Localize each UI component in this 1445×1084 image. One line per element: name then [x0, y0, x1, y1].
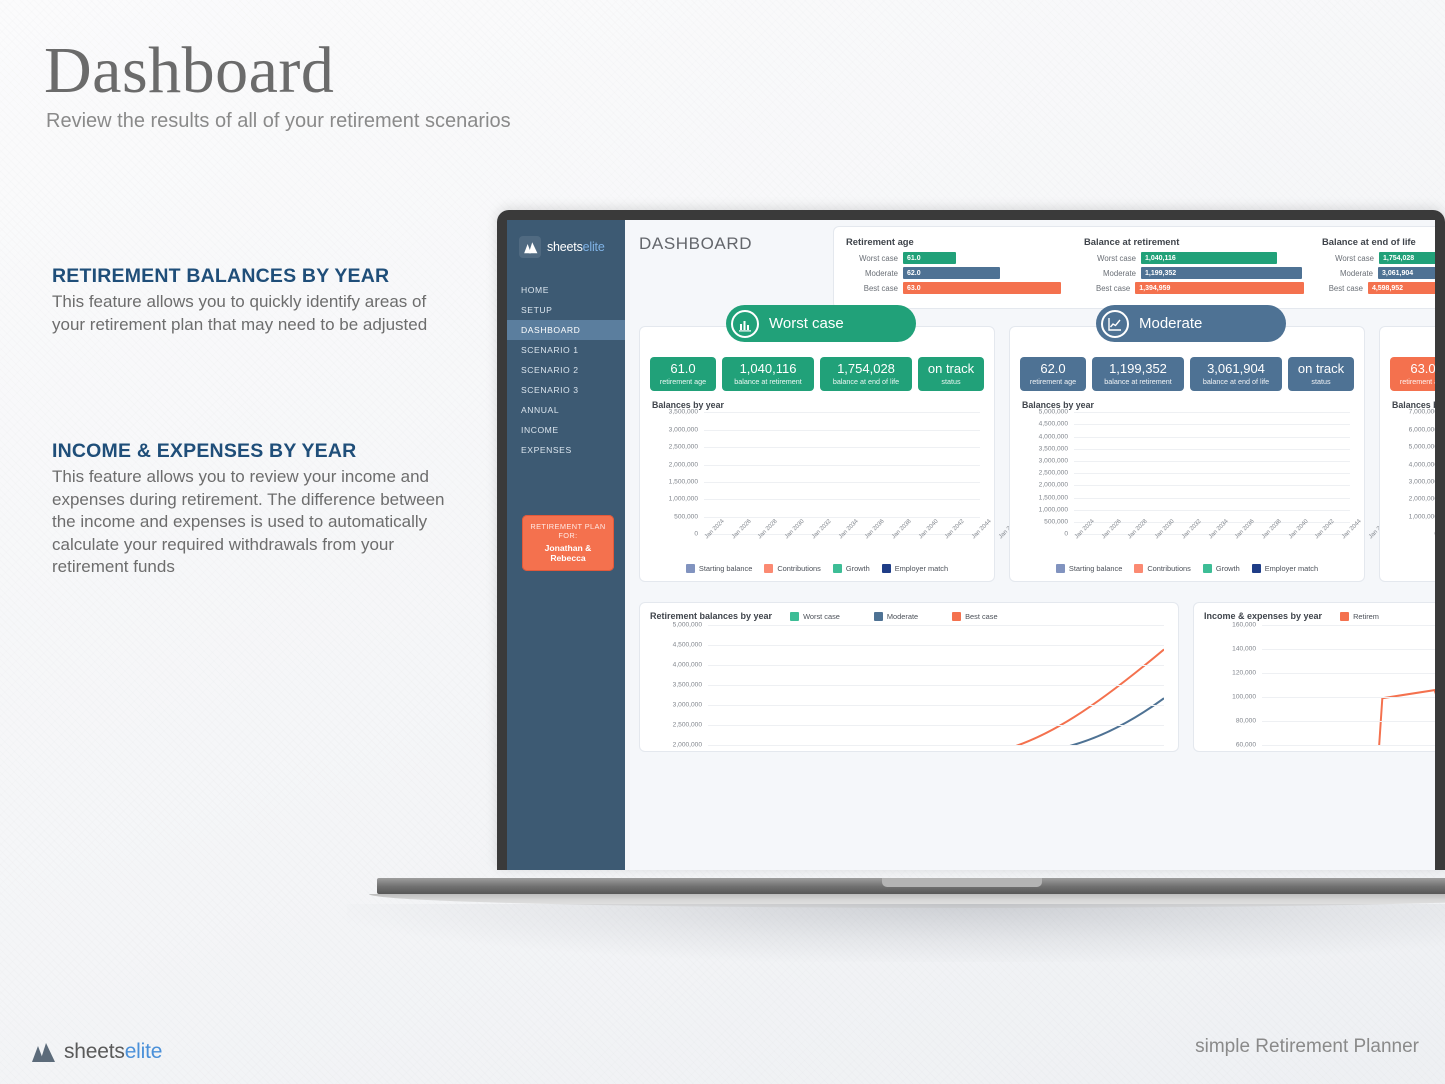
- y-tick-label: 1,000,000: [1409, 513, 1435, 520]
- app-main: DASHBOARD Retirement ageWorst case61.0Mo…: [625, 220, 1435, 870]
- bottom-charts-row: Retirement balances by year Worst caseMo…: [639, 602, 1435, 752]
- plot-area: [1262, 625, 1435, 745]
- legend-swatch: [1340, 612, 1349, 621]
- y-tick-label: 3,000,000: [1409, 479, 1435, 486]
- y-tick-label: 120,000: [1232, 670, 1256, 677]
- laptop-shadow: [347, 904, 1445, 962]
- app-brand-b: elite: [583, 240, 605, 254]
- gridline: [1262, 721, 1435, 722]
- summary-row: Best case1,394,959: [1084, 282, 1304, 294]
- retirement-balances-card: Retirement balances by year Worst caseMo…: [639, 602, 1179, 752]
- summary-row-bar: 1,199,352: [1141, 267, 1302, 279]
- balances-bar-chart: 01,000,0002,000,0003,000,0004,000,0005,0…: [1390, 412, 1435, 562]
- gridline: [708, 705, 1164, 706]
- kpi-status: on trackstatus: [918, 357, 984, 391]
- y-tick-label: 100,000: [1232, 694, 1256, 701]
- kpi-value: 61.0: [654, 362, 712, 376]
- kpi-retirement-age: 61.0retirement age: [650, 357, 716, 391]
- kpi-balance-at-end-of-life: 1,754,028balance at end of life: [820, 357, 912, 391]
- legend-label: Retirem: [1353, 612, 1379, 621]
- bar-chart-icon: [731, 310, 759, 338]
- feature-title: INCOME & EXPENSES BY YEAR: [52, 440, 452, 463]
- plot-area: [708, 625, 1164, 745]
- scenario-pill[interactable]: Moderate: [1096, 305, 1286, 342]
- y-tick-label: 3,000,000: [1039, 458, 1068, 465]
- y-tick-label: 0: [694, 531, 698, 538]
- legend-swatch: [833, 564, 842, 573]
- y-axis: 0500,0001,000,0001,500,0002,000,0002,500…: [650, 412, 702, 534]
- chart-title: Balances by year: [1022, 400, 1354, 410]
- chart-legend: Retirem: [1340, 612, 1379, 621]
- kpi-retirement-age: 62.0retirement age: [1020, 357, 1086, 391]
- kpi-row: 63.0retirement age: [1390, 357, 1435, 391]
- line-chart-icon: [1101, 310, 1129, 338]
- scenario-card-moderate: Moderate62.0retirement age1,199,352balan…: [1009, 326, 1365, 582]
- y-tick-label: 6,000,000: [1409, 426, 1435, 433]
- y-tick-label: 4,000,000: [673, 661, 702, 668]
- y-tick-label: 1,500,000: [1039, 494, 1068, 501]
- summary-group-title: Balance at retirement: [1084, 236, 1304, 247]
- summary-row-label: Best case: [846, 284, 898, 293]
- gridline: [708, 665, 1164, 666]
- summary-group: Balance at retirementWorst case1,040,116…: [1084, 236, 1304, 297]
- x-axis-labels: Jan 2024Jan 2026Jan 2028Jan 2030Jan 2032…: [1074, 534, 1350, 560]
- summary-row-bar: 4,598,952: [1368, 282, 1435, 294]
- legend-label: Worst case: [803, 612, 840, 621]
- y-axis: 2,000,0002,500,0003,000,0003,500,0004,00…: [650, 625, 706, 745]
- footer-brand-a: sheets: [64, 1040, 125, 1063]
- footer-wordmark: sheetselite: [64, 1040, 162, 1064]
- sheetselite-logo-icon: [30, 1041, 56, 1063]
- plan-box-name: Jonathan & Rebecca: [526, 543, 610, 564]
- chart-legend: Starting balanceContributionsGrowthEmplo…: [650, 564, 984, 573]
- feature-body: This feature allows you to quickly ident…: [52, 291, 452, 336]
- y-tick-label: 2,000,000: [673, 742, 702, 749]
- scenario-pill[interactable]: Worst case: [726, 305, 916, 342]
- gridline: [708, 625, 1164, 626]
- scenario-name: Moderate: [1139, 315, 1202, 332]
- laptop-mockup: sheetselite HOMESETUPDASHBOARDSCENARIO 1…: [497, 210, 1445, 870]
- laptop-trackpad-notch: [882, 878, 1042, 887]
- legend-item[interactable]: Starting balance: [686, 564, 752, 573]
- legend-swatch: [1252, 564, 1261, 573]
- y-tick-label: 5,000,000: [673, 622, 702, 629]
- kpi-balance-at-retirement: 1,199,352balance at retirement: [1092, 357, 1184, 391]
- scenario-card-worst-case: Worst case61.0retirement age1,040,116bal…: [639, 326, 995, 582]
- gridline: [1262, 625, 1435, 626]
- summary-group-title: Retirement age: [846, 236, 1066, 247]
- kpi-row: 61.0retirement age1,040,116balance at re…: [650, 357, 984, 391]
- legend-label: Growth: [846, 564, 870, 573]
- sidebar-item-scenario-2[interactable]: SCENARIO 2: [507, 360, 625, 380]
- sidebar-item-scenario-3[interactable]: SCENARIO 3: [507, 380, 625, 400]
- kpi-label: retirement age: [1394, 377, 1435, 386]
- y-tick-label: 1,500,000: [669, 479, 698, 486]
- legend-label: Moderate: [887, 612, 918, 621]
- gridline: [1262, 745, 1435, 746]
- summary-row: Moderate3,061,904: [1322, 267, 1435, 279]
- y-axis: 0500,0001,000,0001,500,0002,000,0002,500…: [1020, 412, 1072, 534]
- legend-label: Employer match: [895, 564, 948, 573]
- gridline: [708, 685, 1164, 686]
- sidebar-item-home[interactable]: HOME: [507, 280, 625, 300]
- summary-row: Best case63.0: [846, 282, 1066, 294]
- kpi-value: 1,199,352: [1096, 362, 1180, 376]
- summary-row-label: Moderate: [1084, 269, 1136, 278]
- retirement-plan-box: RETIREMENT PLAN FOR: Jonathan & Rebecca: [522, 515, 614, 571]
- legend-swatch: [764, 564, 773, 573]
- summary-card: Retirement ageWorst case61.0Moderate62.0…: [833, 226, 1435, 309]
- legend-label: Best case: [965, 612, 997, 621]
- footer-tagline: simple Retirement Planner: [1195, 1036, 1419, 1058]
- legend-swatch: [1056, 564, 1065, 573]
- legend-label: Contributions: [1147, 564, 1191, 573]
- sheetselite-logo-icon: [519, 236, 541, 258]
- income-expenses-card: Income & expenses by year Retirem 60,000…: [1193, 602, 1435, 752]
- summary-row-bar: 1,754,028: [1379, 252, 1435, 264]
- y-tick-label: 140,000: [1232, 646, 1256, 653]
- kpi-label: retirement age: [654, 377, 712, 386]
- summary-row-bar: 1,040,116: [1141, 252, 1277, 264]
- kpi-value: on track: [922, 362, 980, 376]
- legend-item[interactable]: Moderate: [874, 612, 918, 621]
- summary-row-bar: 61.0: [903, 252, 956, 264]
- kpi-row: 62.0retirement age1,199,352balance at re…: [1020, 357, 1354, 391]
- plot-area: [1074, 412, 1350, 534]
- gridline: [1262, 673, 1435, 674]
- legend-item[interactable]: Growth: [833, 564, 870, 573]
- page-subtitle: Review the results of all of your retire…: [46, 110, 511, 133]
- summary-row: Moderate1,199,352: [1084, 267, 1304, 279]
- summary-row-label: Best case: [1084, 284, 1130, 293]
- gridline: [708, 645, 1164, 646]
- sidebar-item-annual[interactable]: ANNUAL: [507, 400, 625, 420]
- legend-item[interactable]: Growth: [1203, 564, 1240, 573]
- plan-box-label-2: FOR:: [526, 531, 610, 540]
- summary-row: Worst case61.0: [846, 252, 1066, 264]
- legend-item[interactable]: Contributions: [1134, 564, 1191, 573]
- kpi-label: balance at end of life: [824, 377, 908, 386]
- legend-label: Growth: [1216, 564, 1240, 573]
- page-title: Dashboard: [44, 36, 334, 105]
- feature-block-balances: RETIREMENT BALANCES BY YEAR This feature…: [52, 265, 452, 336]
- y-tick-label: 2,500,000: [1039, 470, 1068, 477]
- legend-item[interactable]: Employer match: [882, 564, 948, 573]
- gridline: [708, 725, 1164, 726]
- summary-row-bar: 1,394,959: [1135, 282, 1304, 294]
- legend-item[interactable]: Retirem: [1340, 612, 1379, 621]
- y-tick-label: 160,000: [1232, 622, 1256, 629]
- y-tick-label: 0: [1064, 531, 1068, 538]
- card-title: Income & expenses by year: [1204, 611, 1322, 621]
- sidebar-item-income[interactable]: INCOME: [507, 420, 625, 440]
- sidebar-item-dashboard[interactable]: DASHBOARD: [507, 320, 625, 340]
- kpi-label: balance at end of life: [1194, 377, 1278, 386]
- y-tick-label: 1,000,000: [1039, 506, 1068, 513]
- legend-swatch: [790, 612, 799, 621]
- summary-row: Worst case1,754,028: [1322, 252, 1435, 264]
- legend-label: Starting balance: [1069, 564, 1122, 573]
- app-brand-a: sheets: [547, 240, 583, 254]
- y-tick-label: 3,500,000: [1039, 445, 1068, 452]
- gridline: [1262, 649, 1435, 650]
- card-title: Retirement balances by year: [650, 611, 772, 621]
- summary-row-bar: 62.0: [903, 267, 1000, 279]
- summary-row: Moderate62.0: [846, 267, 1066, 279]
- balances-bar-chart: 0500,0001,000,0001,500,0002,000,0002,500…: [1020, 412, 1354, 562]
- chart-legend: Worst caseModerateBest case: [790, 612, 998, 621]
- kpi-balance-at-retirement: 1,040,116balance at retirement: [722, 357, 814, 391]
- kpi-label: balance at retirement: [726, 377, 810, 386]
- legend-item[interactable]: Worst case: [790, 612, 840, 621]
- bar-series: [1074, 412, 1350, 534]
- y-tick-label: 2,000,000: [1409, 496, 1435, 503]
- legend-swatch: [882, 564, 891, 573]
- y-tick-label: 60,000: [1236, 742, 1256, 749]
- footer-logo: sheetselite: [30, 1040, 162, 1064]
- legend-swatch: [952, 612, 961, 621]
- kpi-status: on trackstatus: [1288, 357, 1354, 391]
- legend-item[interactable]: Contributions: [764, 564, 821, 573]
- summary-row: Best case4,598,952: [1322, 282, 1435, 294]
- y-axis: 01,000,0002,000,0003,000,0004,000,0005,0…: [1390, 412, 1435, 534]
- y-tick-label: 3,500,000: [669, 409, 698, 416]
- app-brand: sheetselite: [507, 234, 625, 258]
- y-tick-label: 7,000,000: [1409, 409, 1435, 416]
- summary-row-label: Best case: [1322, 284, 1363, 293]
- summary-row-bar: 3,061,904: [1378, 267, 1435, 279]
- y-tick-label: 3,500,000: [673, 682, 702, 689]
- legend-swatch: [1134, 564, 1143, 573]
- feature-title: RETIREMENT BALANCES BY YEAR: [52, 265, 452, 288]
- summary-row-label: Moderate: [1322, 269, 1373, 278]
- plot-area: [704, 412, 980, 534]
- bar-series: [704, 412, 980, 534]
- kpi-value: 3,061,904: [1194, 362, 1278, 376]
- sidebar-item-scenario-1[interactable]: SCENARIO 1: [507, 340, 625, 360]
- kpi-balance-at-end-of-life: 3,061,904balance at end of life: [1190, 357, 1282, 391]
- kpi-label: retirement age: [1024, 377, 1082, 386]
- line-series: [1262, 625, 1435, 745]
- y-tick-label: 0: [1434, 531, 1435, 538]
- kpi-value: 62.0: [1024, 362, 1082, 376]
- summary-group: Balance at end of lifeWorst case1,754,02…: [1322, 236, 1435, 297]
- y-tick-label: 500,000: [1044, 519, 1068, 526]
- balances-bar-chart: 0500,0001,000,0001,500,0002,000,0002,500…: [650, 412, 984, 562]
- legend-label: Employer match: [1265, 564, 1318, 573]
- y-tick-label: 2,500,000: [673, 722, 702, 729]
- kpi-label: status: [922, 377, 980, 386]
- y-tick-label: 4,000,000: [1039, 433, 1068, 440]
- legend-swatch: [874, 612, 883, 621]
- chart-legend: Starting balanceContributionsGrowthEmplo…: [1020, 564, 1354, 573]
- laptop-bezel: sheetselite HOMESETUPDASHBOARDSCENARIO 1…: [497, 210, 1445, 870]
- app-screen: sheetselite HOMESETUPDASHBOARDSCENARIO 1…: [507, 220, 1435, 870]
- gridline: [708, 745, 1164, 746]
- legend-label: Contributions: [777, 564, 821, 573]
- footer-brand-b: elite: [125, 1040, 163, 1063]
- feature-block-income: INCOME & EXPENSES BY YEAR This feature a…: [52, 440, 452, 579]
- y-tick-label: 1,000,000: [669, 496, 698, 503]
- y-tick-label: 2,000,000: [1039, 482, 1068, 489]
- app-sidebar: sheetselite HOMESETUPDASHBOARDSCENARIO 1…: [507, 220, 625, 870]
- legend-item[interactable]: Starting balance: [1056, 564, 1122, 573]
- legend-swatch: [686, 564, 695, 573]
- summary-row-bar: 63.0: [903, 282, 1061, 294]
- summary-row: Worst case1,040,116: [1084, 252, 1304, 264]
- feature-body: This feature allows you to review your i…: [52, 466, 452, 579]
- y-tick-label: 4,000,000: [1409, 461, 1435, 468]
- summary-row-label: Moderate: [846, 269, 898, 278]
- sidebar-item-setup[interactable]: SETUP: [507, 300, 625, 320]
- summary-row-label: Worst case: [846, 254, 898, 263]
- summary-row-label: Worst case: [1084, 254, 1136, 263]
- line-chart-income: 60,00080,000100,000120,000140,000160,000: [1204, 625, 1435, 745]
- summary-group: Retirement ageWorst case61.0Moderate62.0…: [846, 236, 1066, 297]
- kpi-label: status: [1292, 377, 1350, 386]
- summary-group-title: Balance at end of life: [1322, 236, 1435, 247]
- summary-row-label: Worst case: [1322, 254, 1374, 263]
- scenario-card-best-case: 63.0retirement ageBalances by01,000,0002…: [1379, 326, 1435, 582]
- gridline: [1262, 697, 1435, 698]
- kpi-value: on track: [1292, 362, 1350, 376]
- scenario-cards-row: Worst case61.0retirement age1,040,116bal…: [639, 326, 1435, 582]
- y-tick-label: 2,500,000: [669, 444, 698, 451]
- sidebar-nav: HOMESETUPDASHBOARDSCENARIO 1SCENARIO 2SC…: [507, 280, 625, 460]
- x-axis-labels: Jan 2024Jan 2026Jan 2028Jan 2030Jan 2032…: [704, 534, 980, 560]
- card-header: Income & expenses by year Retirem: [1204, 611, 1435, 621]
- kpi-value: 63.0: [1394, 362, 1435, 376]
- kpi-value: 1,754,028: [824, 362, 908, 376]
- kpi-value: 1,040,116: [726, 362, 810, 376]
- scenario-name: Worst case: [769, 315, 844, 332]
- y-tick-label: 5,000,000: [1039, 409, 1068, 416]
- y-tick-label: 2,000,000: [669, 461, 698, 468]
- y-tick-label: 4,500,000: [673, 641, 702, 648]
- kpi-retirement-age: 63.0retirement age: [1390, 357, 1435, 391]
- y-axis: 60,00080,000100,000120,000140,000160,000: [1204, 625, 1260, 745]
- y-tick-label: 4,500,000: [1039, 421, 1068, 428]
- plan-box-label-1: RETIREMENT PLAN: [526, 522, 610, 531]
- line-chart-balances: 2,000,0002,500,0003,000,0003,500,0004,00…: [650, 625, 1168, 745]
- y-tick-label: 3,000,000: [669, 426, 698, 433]
- y-tick-label: 3,000,000: [673, 701, 702, 708]
- chart-title: Balances by year: [652, 400, 984, 410]
- y-tick-label: 5,000,000: [1409, 444, 1435, 451]
- sidebar-item-expenses[interactable]: EXPENSES: [507, 440, 625, 460]
- legend-item[interactable]: Best case: [952, 612, 997, 621]
- card-header: Retirement balances by year Worst caseMo…: [650, 611, 1168, 621]
- legend-label: Starting balance: [699, 564, 752, 573]
- kpi-label: balance at retirement: [1096, 377, 1180, 386]
- app-wordmark: sheetselite: [547, 240, 605, 254]
- y-tick-label: 500,000: [674, 513, 698, 520]
- legend-item[interactable]: Employer match: [1252, 564, 1318, 573]
- y-tick-label: 80,000: [1236, 718, 1256, 725]
- legend-swatch: [1203, 564, 1212, 573]
